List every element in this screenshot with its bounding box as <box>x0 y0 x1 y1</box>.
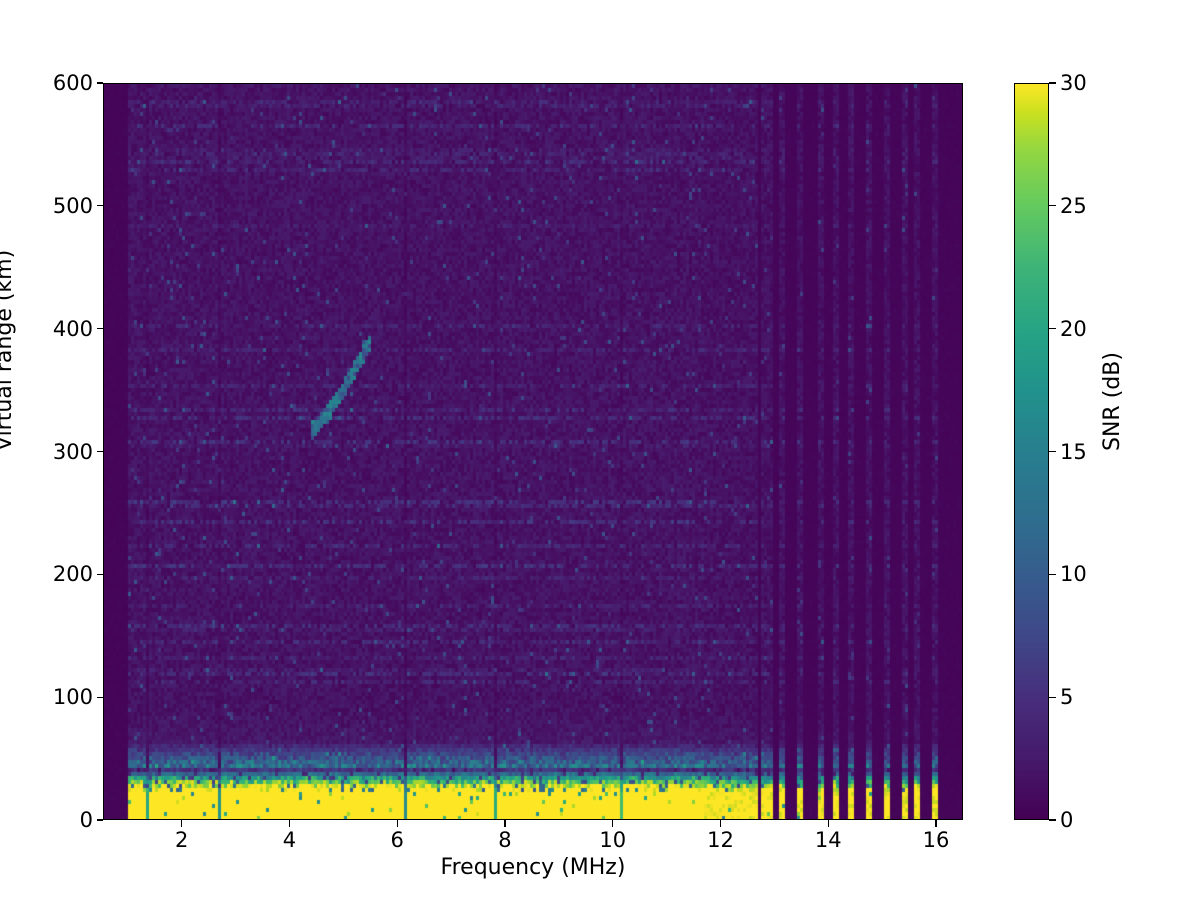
colorbar-tick-mark <box>1049 819 1056 820</box>
x-axis-tick-label: 6 <box>357 828 437 852</box>
colorbar-tick-mark <box>1049 205 1056 206</box>
colorbar[interactable] <box>1014 83 1049 820</box>
colorbar-tick-label: 30 <box>1060 71 1087 95</box>
x-axis-tick-label: 16 <box>896 828 976 852</box>
ionogram-heatmap-canvas[interactable] <box>104 84 963 820</box>
ionogram-figure: IRF Kiruna Ionosonde KI167 2025-10-12 09… <box>0 0 1200 900</box>
x-axis-tick-mark <box>612 820 613 827</box>
colorbar-tick-label: 20 <box>1060 317 1087 341</box>
colorbar-tick-mark <box>1049 328 1056 329</box>
x-axis-tick-mark <box>828 820 829 827</box>
x-axis-tick-label: 2 <box>142 828 222 852</box>
colorbar-tick-mark <box>1049 574 1056 575</box>
x-axis-tick-label: 12 <box>681 828 761 852</box>
colorbar-tick-mark <box>1049 82 1056 83</box>
y-axis-tick-label: 0 <box>0 808 93 832</box>
y-axis-label: Virtual range (km) <box>0 250 17 451</box>
colorbar-tick-label: 25 <box>1060 194 1087 218</box>
colorbar-tick-mark <box>1049 451 1056 452</box>
colorbar-label: SNR (dB) <box>1100 352 1125 451</box>
x-axis-tick-label: 8 <box>465 828 545 852</box>
x-axis-label: Frequency (MHz) <box>103 855 963 880</box>
x-axis-tick-label: 14 <box>788 828 868 852</box>
y-axis-tick-mark <box>97 328 104 329</box>
ionogram-plot-area[interactable] <box>103 83 963 820</box>
colorbar-tick-label: 10 <box>1060 562 1087 586</box>
x-axis-tick-mark <box>289 820 290 827</box>
x-axis-tick-mark <box>397 820 398 827</box>
y-axis-tick-mark <box>97 697 104 698</box>
y-axis-tick-label: 500 <box>0 194 93 218</box>
colorbar-tick-label: 15 <box>1060 440 1087 464</box>
x-axis-tick-label: 10 <box>573 828 653 852</box>
y-axis-tick-mark <box>97 451 104 452</box>
y-axis-tick-label: 200 <box>0 562 93 586</box>
colorbar-tick-mark <box>1049 697 1056 698</box>
colorbar-tick-label: 5 <box>1060 685 1073 709</box>
x-axis-tick-label: 4 <box>249 828 329 852</box>
colorbar-gradient <box>1014 83 1049 820</box>
x-axis-tick-mark <box>720 820 721 827</box>
y-axis-tick-label: 100 <box>0 685 93 709</box>
x-axis-tick-mark <box>181 820 182 827</box>
x-axis-tick-mark <box>504 820 505 827</box>
y-axis-tick-mark <box>97 819 104 820</box>
x-axis-tick-mark <box>935 820 936 827</box>
y-axis-tick-mark <box>97 205 104 206</box>
y-axis-tick-mark <box>97 82 104 83</box>
colorbar-tick-label: 0 <box>1060 808 1073 832</box>
y-axis-tick-label: 600 <box>0 71 93 95</box>
y-axis-tick-mark <box>97 574 104 575</box>
